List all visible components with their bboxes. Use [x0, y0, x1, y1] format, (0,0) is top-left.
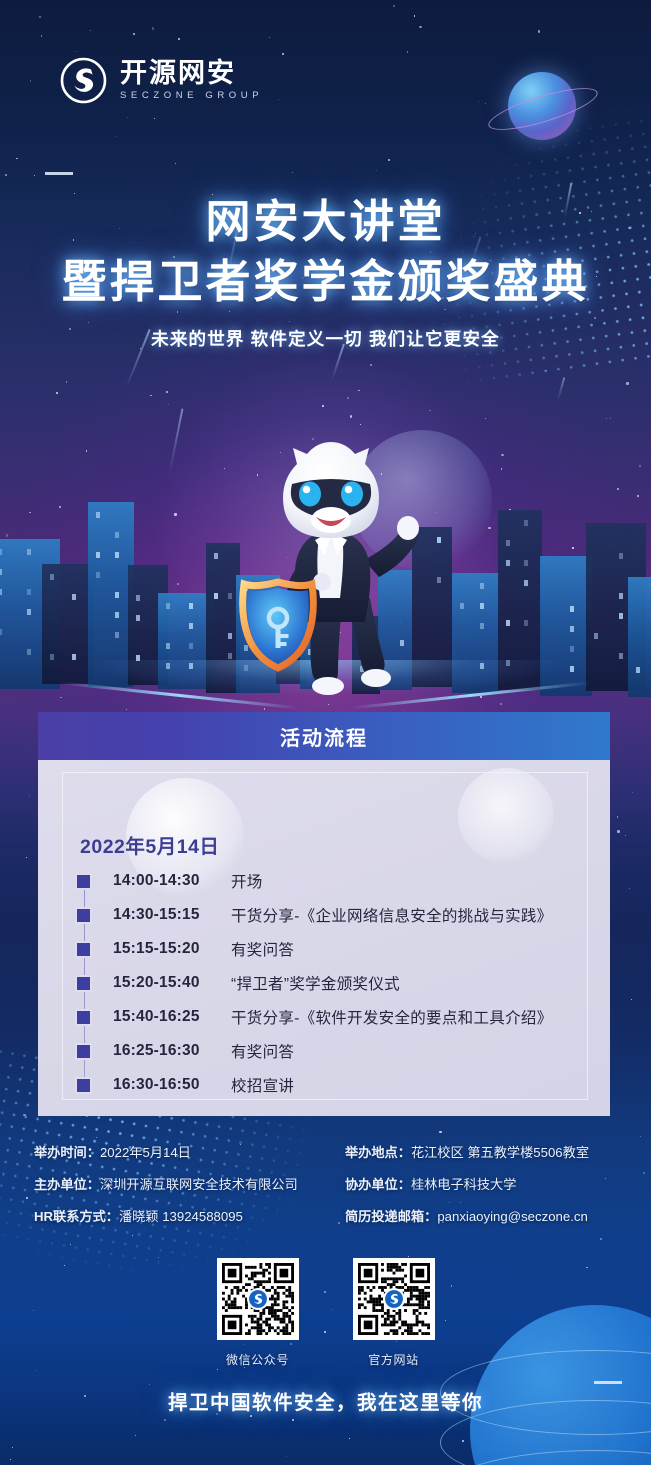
qr-code-block[interactable]: 官方网站	[353, 1258, 435, 1368]
hero-title-line2: 暨捍卫者奖学金颁奖盛典	[0, 256, 651, 308]
schedule-desc: 有奖问答	[231, 938, 294, 960]
schedule-desc: 干货分享-《软件开发安全的要点和工具介绍》	[231, 1006, 552, 1028]
hero-title-line1: 网安大讲堂	[0, 196, 651, 248]
schedule-row: 14:00-14:30开场	[76, 864, 590, 898]
schedule-panel-header: 活动流程	[38, 712, 610, 760]
info-value: 深圳开源互联网安全技术有限公司	[100, 1177, 298, 1192]
schedule-time: 15:15-15:20	[113, 940, 231, 958]
info-label: 简历投递邮箱：	[345, 1209, 437, 1224]
schedule-row: 15:15-15:20有奖问答	[76, 932, 590, 966]
info-value: 桂林电子科技大学	[411, 1177, 517, 1192]
schedule-row: 14:30-15:15干货分享-《企业网络信息安全的挑战与实践》	[76, 898, 590, 932]
timeline-bullet-icon	[77, 1045, 90, 1058]
schedule-time: 14:30-15:15	[113, 906, 231, 924]
schedule-desc: 开场	[231, 870, 263, 892]
schedule-time: 15:40-16:25	[113, 1008, 231, 1026]
schedule-panel-body: 2022年5月14日 14:00-14:30开场14:30-15:15干货分享-…	[38, 760, 610, 1116]
schedule-time: 16:30-16:50	[113, 1076, 231, 1094]
timeline-bullet-icon	[77, 1011, 90, 1024]
qr-code-label: 微信公众号	[217, 1351, 299, 1368]
seczone-circle-s-icon	[60, 57, 107, 104]
schedule-panel: 活动流程 2022年5月14日 14:00-14:30开场14:30-15:15…	[38, 712, 610, 1116]
info-label: 主办单位：	[34, 1177, 100, 1192]
info-value: 2022年5月14日	[100, 1145, 191, 1160]
brand-name-cn: 开源网安	[120, 60, 263, 87]
schedule-timeline: 14:00-14:30开场14:30-15:15干货分享-《企业网络信息安全的挑…	[76, 864, 590, 1102]
info-line: 举办时间：2022年5月14日	[34, 1146, 298, 1159]
schedule-row: 16:25-16:30有奖问答	[76, 1034, 590, 1068]
qr-center-logo-icon	[247, 1288, 269, 1310]
info-label: 举办时间：	[34, 1145, 100, 1160]
schedule-time: 16:25-16:30	[113, 1042, 231, 1060]
timeline-bullet-icon	[77, 875, 90, 888]
qr-code-wechat-icon[interactable]	[217, 1258, 299, 1340]
schedule-desc: 干货分享-《企业网络信息安全的挑战与实践》	[231, 904, 552, 926]
qr-code-block[interactable]: 微信公众号	[217, 1258, 299, 1368]
decorative-dash-bottom-right	[594, 1381, 622, 1384]
brand-logo: 开源网安 SECZONE GROUP	[60, 57, 263, 104]
ringed-planet-icon	[508, 72, 576, 140]
timeline-bullet-icon	[77, 909, 90, 922]
schedule-time: 14:00-14:30	[113, 872, 231, 890]
info-line: 主办单位：深圳开源互联网安全技术有限公司	[34, 1178, 298, 1191]
schedule-title: 活动流程	[280, 722, 368, 751]
schedule-row: 15:20-15:40“捍卫者”奖学金颁奖仪式	[76, 966, 590, 1000]
schedule-date: 2022年5月14日	[80, 830, 219, 859]
decorative-dash-top-left	[45, 172, 73, 175]
info-value: 花江校区 第五教学楼5506教室	[411, 1145, 589, 1160]
schedule-desc: 校招宣讲	[231, 1074, 294, 1096]
hero-subtitle: 未来的世界 软件定义一切 我们让它更安全	[0, 326, 651, 351]
mascot-cat-hero-icon	[236, 432, 426, 702]
info-label: 协办单位：	[345, 1177, 411, 1192]
info-value: panxiaoying@seczone.cn	[437, 1209, 587, 1224]
event-info-right-column: 举办地点：花江校区 第五教学楼5506教室协办单位：桂林电子科技大学简历投递邮箱…	[345, 1146, 589, 1243]
timeline-bullet-icon	[77, 943, 90, 956]
schedule-time: 15:20-15:40	[113, 974, 231, 992]
info-line: 简历投递邮箱：panxiaoying@seczone.cn	[345, 1210, 589, 1223]
schedule-desc: “捍卫者”奖学金颁奖仪式	[231, 972, 400, 994]
poster-root: 开源网安 SECZONE GROUP 网安大讲堂 暨捍卫者奖学金颁奖盛典 未来的…	[0, 0, 651, 1465]
qr-code-website-icon[interactable]	[353, 1258, 435, 1340]
timeline-bullet-icon	[77, 977, 90, 990]
qr-code-row: 微信公众号官方网站	[0, 1258, 651, 1368]
info-line: 协办单位：桂林电子科技大学	[345, 1178, 589, 1191]
schedule-desc: 有奖问答	[231, 1040, 294, 1062]
info-label: 举办地点：	[345, 1145, 411, 1160]
info-label: HR联系方式：	[34, 1209, 119, 1224]
schedule-row: 15:40-16:25干货分享-《软件开发安全的要点和工具介绍》	[76, 1000, 590, 1034]
schedule-row: 16:30-16:50校招宣讲	[76, 1068, 590, 1102]
info-line: HR联系方式：潘晓颖 13924588095	[34, 1210, 298, 1223]
event-info-left-column: 举办时间：2022年5月14日主办单位：深圳开源互联网安全技术有限公司HR联系方…	[34, 1146, 298, 1243]
hero-title-block: 网安大讲堂 暨捍卫者奖学金颁奖盛典 未来的世界 软件定义一切 我们让它更安全	[0, 196, 651, 351]
info-line: 举办地点：花江校区 第五教学楼5506教室	[345, 1146, 589, 1159]
timeline-bullet-icon	[77, 1079, 90, 1092]
brand-name-en: SECZONE GROUP	[120, 91, 263, 101]
info-value: 潘晓颖 13924588095	[119, 1209, 243, 1224]
qr-code-label: 官方网站	[353, 1351, 435, 1368]
bottom-slogan: 捍卫中国软件安全，我在这里等你	[0, 1386, 651, 1415]
qr-center-logo-icon	[383, 1288, 405, 1310]
